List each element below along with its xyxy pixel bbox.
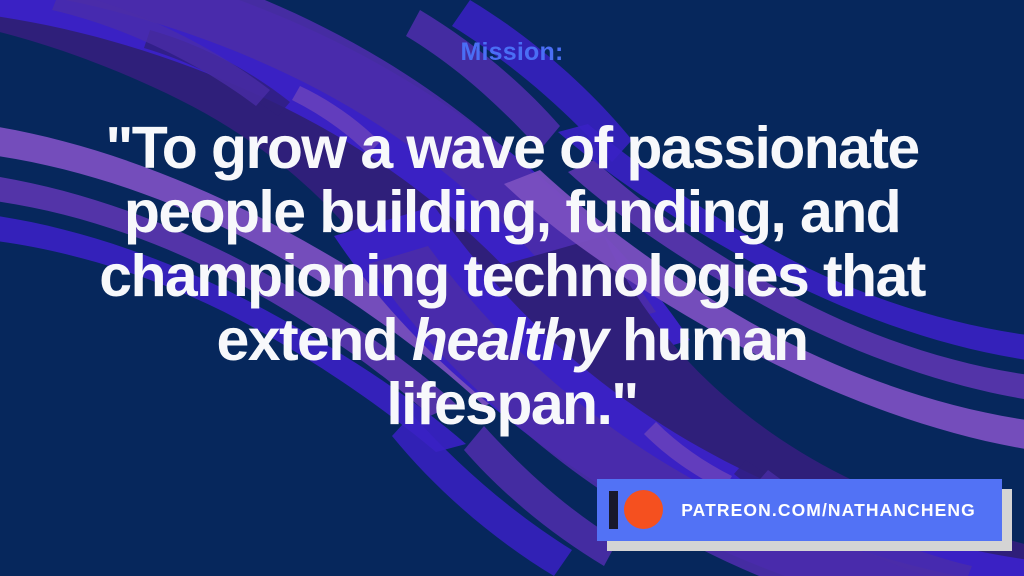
patreon-logo-circle-icon — [624, 490, 663, 529]
mission-label: Mission: — [0, 38, 1024, 67]
patreon-banner[interactable]: PATREON.COM/NATHANCHENG — [597, 479, 1002, 541]
patreon-logo-icon — [597, 479, 669, 541]
quote-line-text: championing technologies that — [99, 243, 925, 309]
quote-line-text: lifespan." — [386, 371, 637, 437]
quote-line-text: people building, funding, and — [124, 179, 900, 245]
quote-line: extend healthy human — [0, 308, 1024, 372]
patreon-logo-bar-icon — [609, 491, 618, 529]
quote-emphasis-word: healthy — [412, 307, 607, 373]
quote-line-text-tail: human — [607, 307, 807, 373]
quote-line-text: "To grow a wave of passionate — [105, 115, 918, 181]
patreon-url-text[interactable]: PATREON.COM/NATHANCHENG — [669, 500, 1002, 521]
quote-line: lifespan." — [0, 372, 1024, 436]
slide-canvas: Mission: "To grow a wave of passionate p… — [0, 0, 1024, 576]
mission-quote: "To grow a wave of passionate people bui… — [0, 116, 1024, 436]
patreon-banner-plate[interactable]: PATREON.COM/NATHANCHENG — [597, 479, 1002, 541]
quote-line: championing technologies that — [0, 244, 1024, 308]
quote-line-text: extend — [217, 307, 412, 373]
quote-line: people building, funding, and — [0, 180, 1024, 244]
quote-line: "To grow a wave of passionate — [0, 116, 1024, 180]
